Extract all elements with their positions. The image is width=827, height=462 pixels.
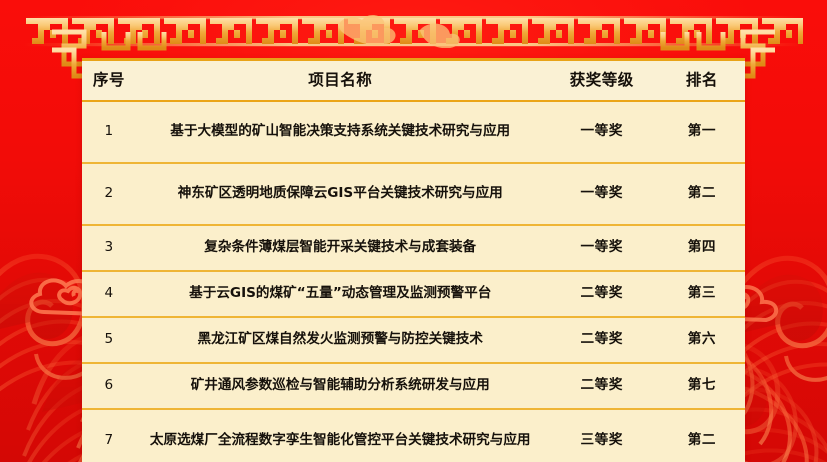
cell-project-name: 神东矿区透明地质保障云GIS平台关键技术研究与应用 [136,163,545,225]
table-row: 2 神东矿区透明地质保障云GIS平台关键技术研究与应用 一等奖 第二 [82,163,745,225]
table-header: 序号 项目名称 获奖等级 排名 [82,61,745,101]
table-row: 7 太原选煤厂全流程数字孪生智能化管控平台关键技术研究与应用 三等奖 第二 [82,409,745,462]
cell-rank: 第七 [659,363,745,409]
table-row: 1 基于大模型的矿山智能决策支持系统关键技术研究与应用 一等奖 第一 [82,101,745,163]
cell-award-grade: 二等奖 [545,363,659,409]
cell-rank: 第一 [659,101,745,163]
cell-index: 1 [82,101,136,163]
cell-rank: 第三 [659,271,745,317]
column-header-award-grade: 获奖等级 [545,61,659,101]
cell-rank: 第二 [659,163,745,225]
column-header-rank: 排名 [659,61,745,101]
table-row: 4 基于云GIS的煤矿“五量”动态管理及监测预警平台 二等奖 第三 [82,271,745,317]
cell-rank: 第六 [659,317,745,363]
cell-award-grade: 一等奖 [545,225,659,271]
table-row: 3 复杂条件薄煤层智能开采关键技术与成套装备 一等奖 第四 [82,225,745,271]
poster-canvas: 序号 项目名称 获奖等级 排名 1 基于大模型的矿山智能决策支持系统关键技术研究… [0,0,827,462]
cell-index: 5 [82,317,136,363]
cell-index: 2 [82,163,136,225]
award-table-container: 序号 项目名称 获奖等级 排名 1 基于大模型的矿山智能决策支持系统关键技术研究… [82,58,745,462]
top-fret-border-ornament [24,14,803,48]
table-row: 5 黑龙江矿区煤自然发火监测预警与防控关键技术 二等奖 第六 [82,317,745,363]
award-table: 序号 项目名称 获奖等级 排名 1 基于大模型的矿山智能决策支持系统关键技术研究… [82,61,745,462]
cell-index: 6 [82,363,136,409]
cell-index: 3 [82,225,136,271]
column-header-project-name: 项目名称 [136,61,545,101]
cell-project-name: 复杂条件薄煤层智能开采关键技术与成套装备 [136,225,545,271]
cell-award-grade: 三等奖 [545,409,659,462]
table-body: 1 基于大模型的矿山智能决策支持系统关键技术研究与应用 一等奖 第一 2 神东矿… [82,101,745,462]
cell-award-grade: 二等奖 [545,271,659,317]
table-header-row: 序号 项目名称 获奖等级 排名 [82,61,745,101]
cell-project-name: 矿井通风参数巡检与智能辅助分析系统研发与应用 [136,363,545,409]
cell-project-name: 太原选煤厂全流程数字孪生智能化管控平台关键技术研究与应用 [136,409,545,462]
cell-rank: 第二 [659,409,745,462]
cell-award-grade: 一等奖 [545,101,659,163]
column-header-index: 序号 [82,61,136,101]
cell-award-grade: 一等奖 [545,163,659,225]
cell-rank: 第四 [659,225,745,271]
cell-index: 4 [82,271,136,317]
table-row: 6 矿井通风参数巡检与智能辅助分析系统研发与应用 二等奖 第七 [82,363,745,409]
cell-project-name: 基于大模型的矿山智能决策支持系统关键技术研究与应用 [136,101,545,163]
cell-index: 7 [82,409,136,462]
cell-award-grade: 二等奖 [545,317,659,363]
cell-project-name: 黑龙江矿区煤自然发火监测预警与防控关键技术 [136,317,545,363]
cell-project-name: 基于云GIS的煤矿“五量”动态管理及监测预警平台 [136,271,545,317]
